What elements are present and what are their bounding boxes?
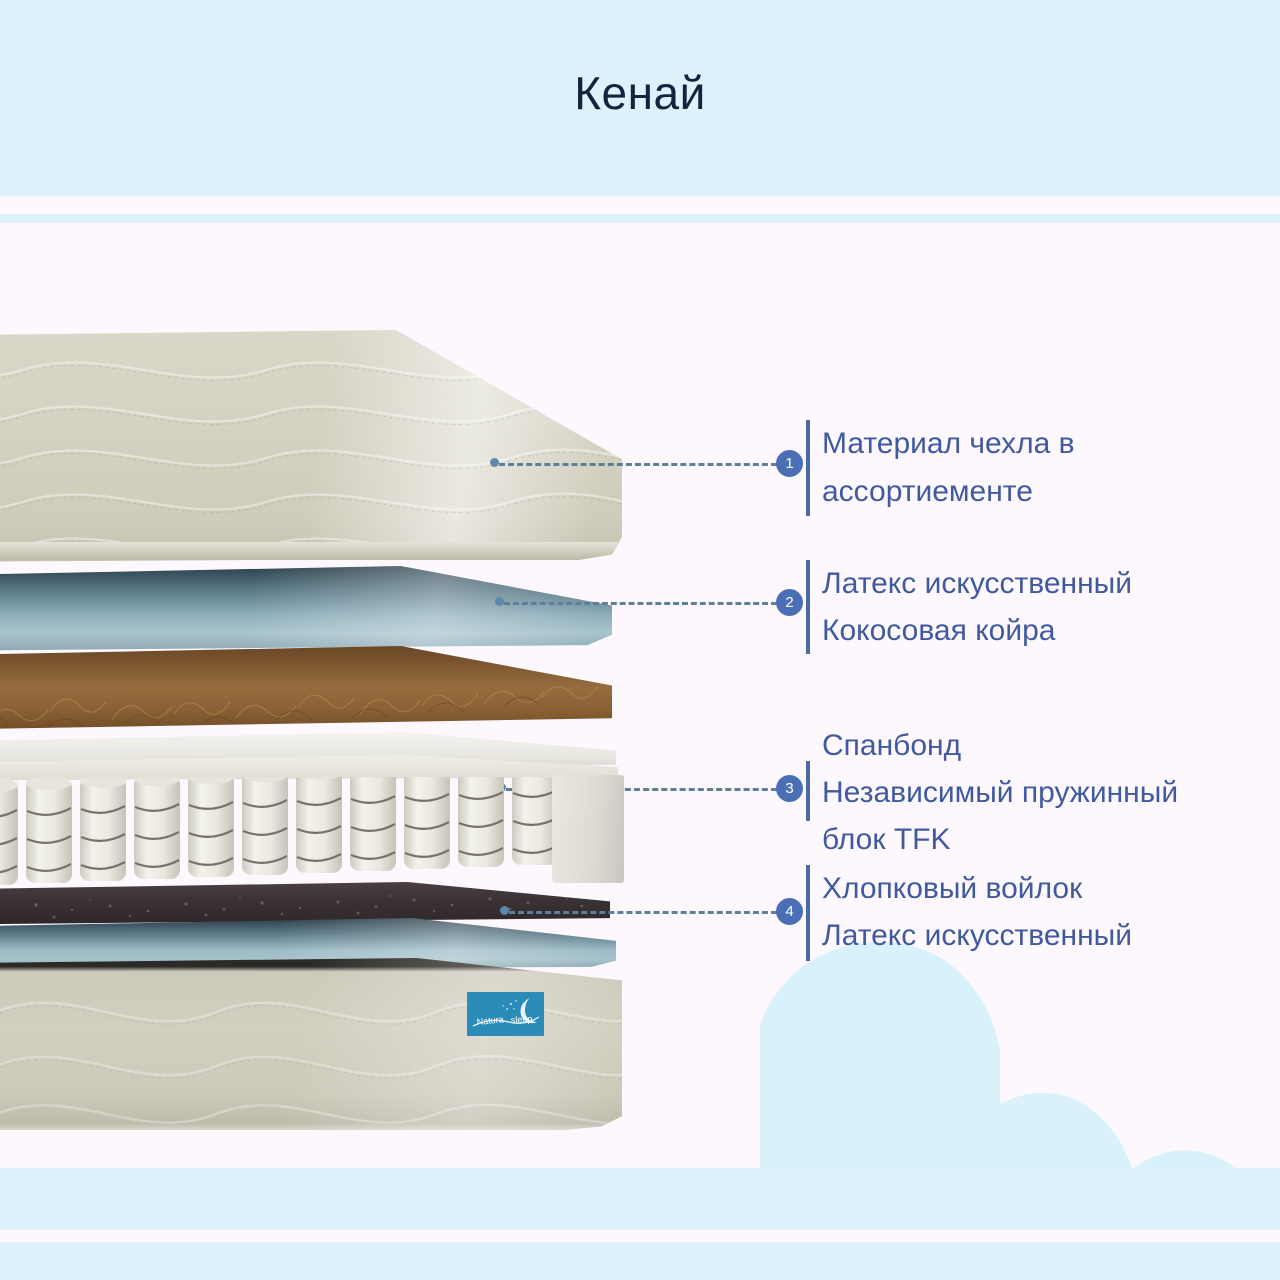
callout-badge-2[interactable]: 2 bbox=[776, 589, 803, 616]
callout-text-4-line-1: Хлопковый войлок bbox=[822, 865, 1082, 912]
callout-bar-3 bbox=[806, 761, 810, 821]
spring-row bbox=[0, 769, 618, 889]
layer-pocket-spring-block-tfk bbox=[0, 755, 620, 895]
layer-coconut-coir bbox=[0, 646, 612, 732]
layer-cover-edge bbox=[0, 542, 620, 560]
foam-edge-support-right bbox=[552, 775, 624, 883]
header-gap-band bbox=[0, 196, 1280, 214]
callout-badge-4[interactable]: 4 bbox=[776, 898, 803, 925]
coir-fiber-texture-icon bbox=[0, 646, 612, 732]
brand-name-part2: sleep bbox=[511, 1014, 533, 1025]
leader-dot-4 bbox=[500, 906, 509, 915]
callout-text-2-line-1: Латекс искусственный bbox=[822, 560, 1132, 608]
callout-text-1-line-1: Материал чехла в bbox=[822, 420, 1075, 468]
leader-dot-1 bbox=[490, 458, 499, 467]
callout-text-3-line-3: блок TFK bbox=[822, 816, 950, 863]
leader-line-4 bbox=[509, 911, 777, 914]
brand-name-part1: Natura bbox=[476, 1014, 504, 1027]
callout-text-3-line-1: Спанбонд bbox=[822, 722, 961, 769]
brand-logo-tag: Natura sleep bbox=[467, 992, 544, 1036]
header-rule-band bbox=[0, 214, 1280, 223]
footer-band bbox=[0, 1242, 1280, 1280]
leader-dot-2 bbox=[495, 597, 504, 606]
footer-rule-band bbox=[0, 1230, 1280, 1242]
callout-text-2-line-2: Кокосовая койра bbox=[822, 607, 1055, 655]
pocket-springs-icon bbox=[0, 777, 570, 897]
page-title: Кенай bbox=[0, 66, 1280, 120]
leader-line-1 bbox=[499, 463, 777, 466]
callout-bar-4 bbox=[806, 865, 810, 961]
callout-bar-2 bbox=[806, 560, 810, 654]
callout-badge-1[interactable]: 1 bbox=[776, 450, 803, 477]
quilt-pattern-icon bbox=[0, 330, 622, 565]
callout-text-3-line-2: Независимый пружинный bbox=[822, 769, 1178, 816]
callout-text-1-line-2: ассортиементе bbox=[822, 468, 1033, 516]
natura-sleep-logo-icon: Natura sleep bbox=[467, 992, 544, 1036]
leader-line-2 bbox=[504, 602, 777, 605]
layer-quilted-cover bbox=[0, 330, 622, 565]
layer-quilted-base bbox=[0, 958, 622, 1130]
callout-text-4-line-2: Латекс искусственный bbox=[822, 912, 1132, 959]
mattress-exploded-view: Natura sleep bbox=[0, 330, 630, 1120]
infographic-canvas: Кенай bbox=[0, 0, 1280, 1280]
callout-badge-3[interactable]: 3 bbox=[776, 775, 803, 802]
base-quilt-pattern-icon bbox=[0, 958, 622, 1130]
cloud-base-strip bbox=[0, 1168, 1280, 1230]
callout-bar-1 bbox=[806, 420, 810, 516]
layer-latex-top bbox=[0, 566, 612, 652]
